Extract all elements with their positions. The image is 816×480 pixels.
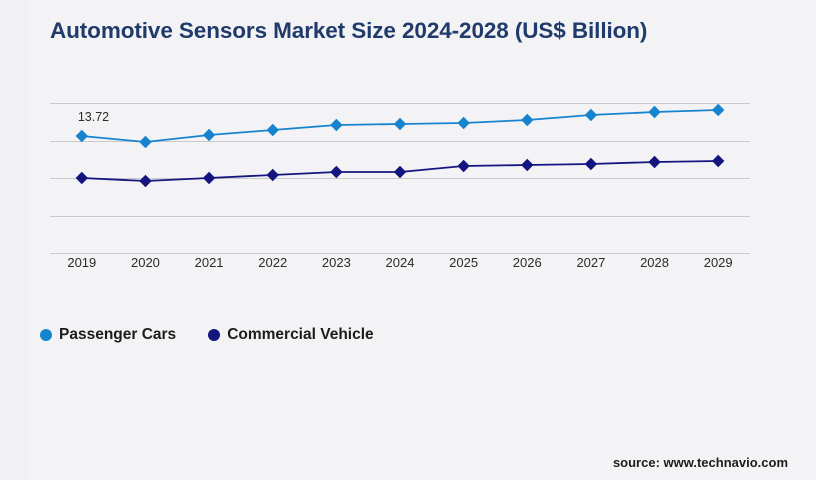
- data-point-marker[interactable]: [267, 124, 279, 136]
- circle-marker-icon: [208, 329, 220, 341]
- data-point-marker[interactable]: [330, 166, 342, 178]
- data-point-marker[interactable]: [521, 159, 533, 171]
- data-point-marker[interactable]: [457, 117, 469, 129]
- data-point-marker[interactable]: [267, 169, 279, 181]
- data-point-marker[interactable]: [712, 104, 724, 116]
- x-axis-tick-2019: 2019: [67, 255, 96, 270]
- data-point-marker[interactable]: [330, 119, 342, 131]
- data-point-marker[interactable]: [521, 114, 533, 126]
- x-axis-tick-2023: 2023: [322, 255, 351, 270]
- data-point-label: 13.72: [78, 110, 109, 124]
- data-point-marker[interactable]: [203, 172, 215, 184]
- x-axis-tick-2020: 2020: [131, 255, 160, 270]
- data-point-marker[interactable]: [139, 175, 151, 187]
- page-title: Automotive Sensors Market Size 2024-2028…: [50, 16, 790, 46]
- series-lines-group: [50, 95, 750, 260]
- x-axis-tick-2026: 2026: [513, 255, 542, 270]
- chart-container: Automotive Sensors Market Size 2024-2028…: [0, 0, 816, 480]
- data-point-marker[interactable]: [394, 118, 406, 130]
- x-axis-tick-2029: 2029: [704, 255, 733, 270]
- data-point-marker[interactable]: [457, 160, 469, 172]
- x-axis-tick-2025: 2025: [449, 255, 478, 270]
- data-point-marker[interactable]: [585, 158, 597, 170]
- legend-item-passenger-cars[interactable]: Passenger Cars: [40, 326, 176, 344]
- x-axis-tick-2024: 2024: [386, 255, 415, 270]
- legend-item-label: Passenger Cars: [59, 326, 176, 344]
- x-axis-tick-2027: 2027: [576, 255, 605, 270]
- data-point-marker[interactable]: [585, 109, 597, 121]
- x-axis-tick-2028: 2028: [640, 255, 669, 270]
- left-margin-band: [0, 0, 30, 480]
- data-point-marker[interactable]: [139, 136, 151, 148]
- plot-area: 13.72: [50, 95, 750, 260]
- x-axis-ticks: 2019202020212022202320242025202620272028…: [50, 255, 750, 279]
- series-commercial-vehicle: [76, 155, 725, 187]
- data-point-marker[interactable]: [394, 166, 406, 178]
- data-point-marker[interactable]: [203, 129, 215, 141]
- source-note: source: www.technavio.com: [613, 455, 788, 470]
- data-point-marker[interactable]: [648, 106, 660, 118]
- data-point-marker[interactable]: [76, 130, 88, 142]
- chart-legend: Passenger CarsCommercial Vehicle: [40, 324, 374, 346]
- data-point-marker[interactable]: [712, 155, 724, 167]
- x-axis-tick-2021: 2021: [195, 255, 224, 270]
- legend-item-label: Commercial Vehicle: [227, 326, 373, 344]
- data-point-marker[interactable]: [76, 172, 88, 184]
- legend-item-commercial-vehicle[interactable]: Commercial Vehicle: [208, 326, 373, 344]
- x-axis-tick-2022: 2022: [258, 255, 287, 270]
- circle-marker-icon: [40, 329, 52, 341]
- data-point-marker[interactable]: [648, 156, 660, 168]
- series-passenger-cars: [76, 104, 725, 148]
